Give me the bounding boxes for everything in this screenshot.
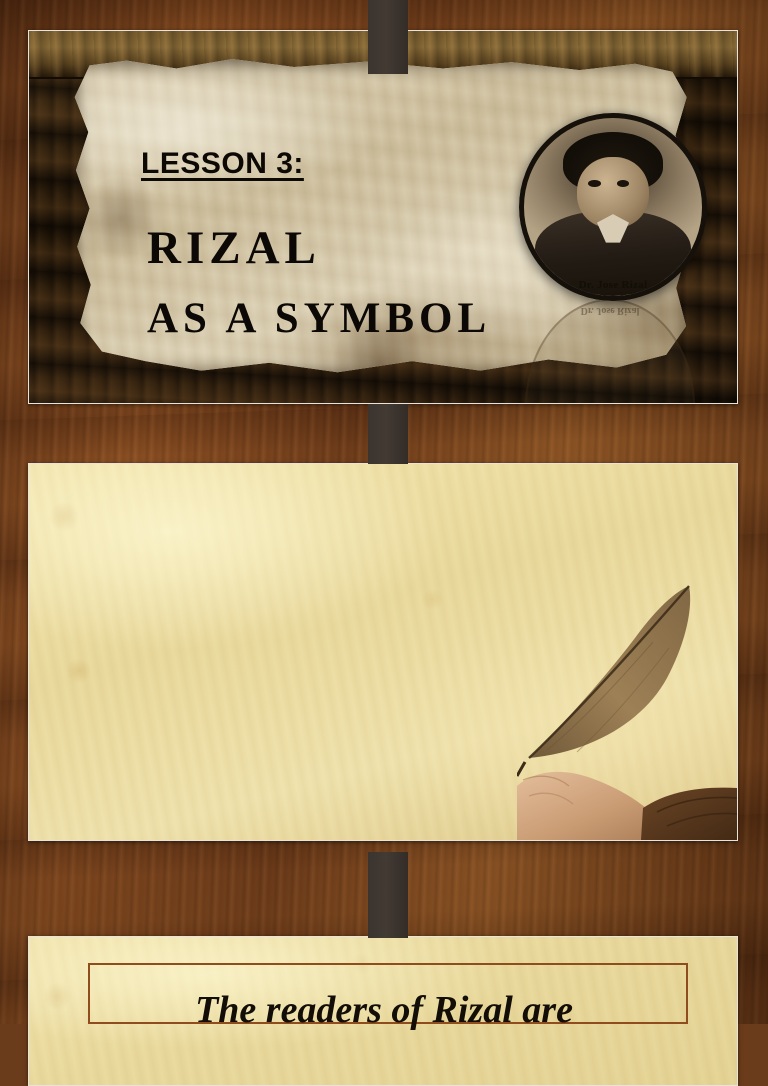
quill-pen-and-hand-illustration xyxy=(517,580,737,840)
lesson-label: LESSON 3: xyxy=(141,147,304,181)
page-separator-tab-middle xyxy=(368,404,408,464)
quote-text: The readers of Rizal are xyxy=(0,988,768,1032)
slide-lesson-outcome[interactable]: Lesson Outcome At the end of the session… xyxy=(28,463,738,841)
title-line-1: RIZAL xyxy=(147,221,321,275)
title-line-2: AS A SYMBOL xyxy=(147,294,491,343)
portrait-reflection: Dr. Jose Rizal xyxy=(525,299,695,404)
page-separator-tab-bottom xyxy=(368,852,408,938)
page-separator-tab-top xyxy=(368,0,408,74)
rizal-portrait-icon: Dr. Jose Rizal xyxy=(519,113,707,301)
portrait-caption: Dr. Jose Rizal xyxy=(524,279,702,291)
slide-title[interactable]: Dr. Jose Rizal LESSON 3: RIZAL AS A SYMB… xyxy=(28,30,738,404)
portrait-reflection-caption: Dr. Jose Rizal xyxy=(527,305,693,316)
